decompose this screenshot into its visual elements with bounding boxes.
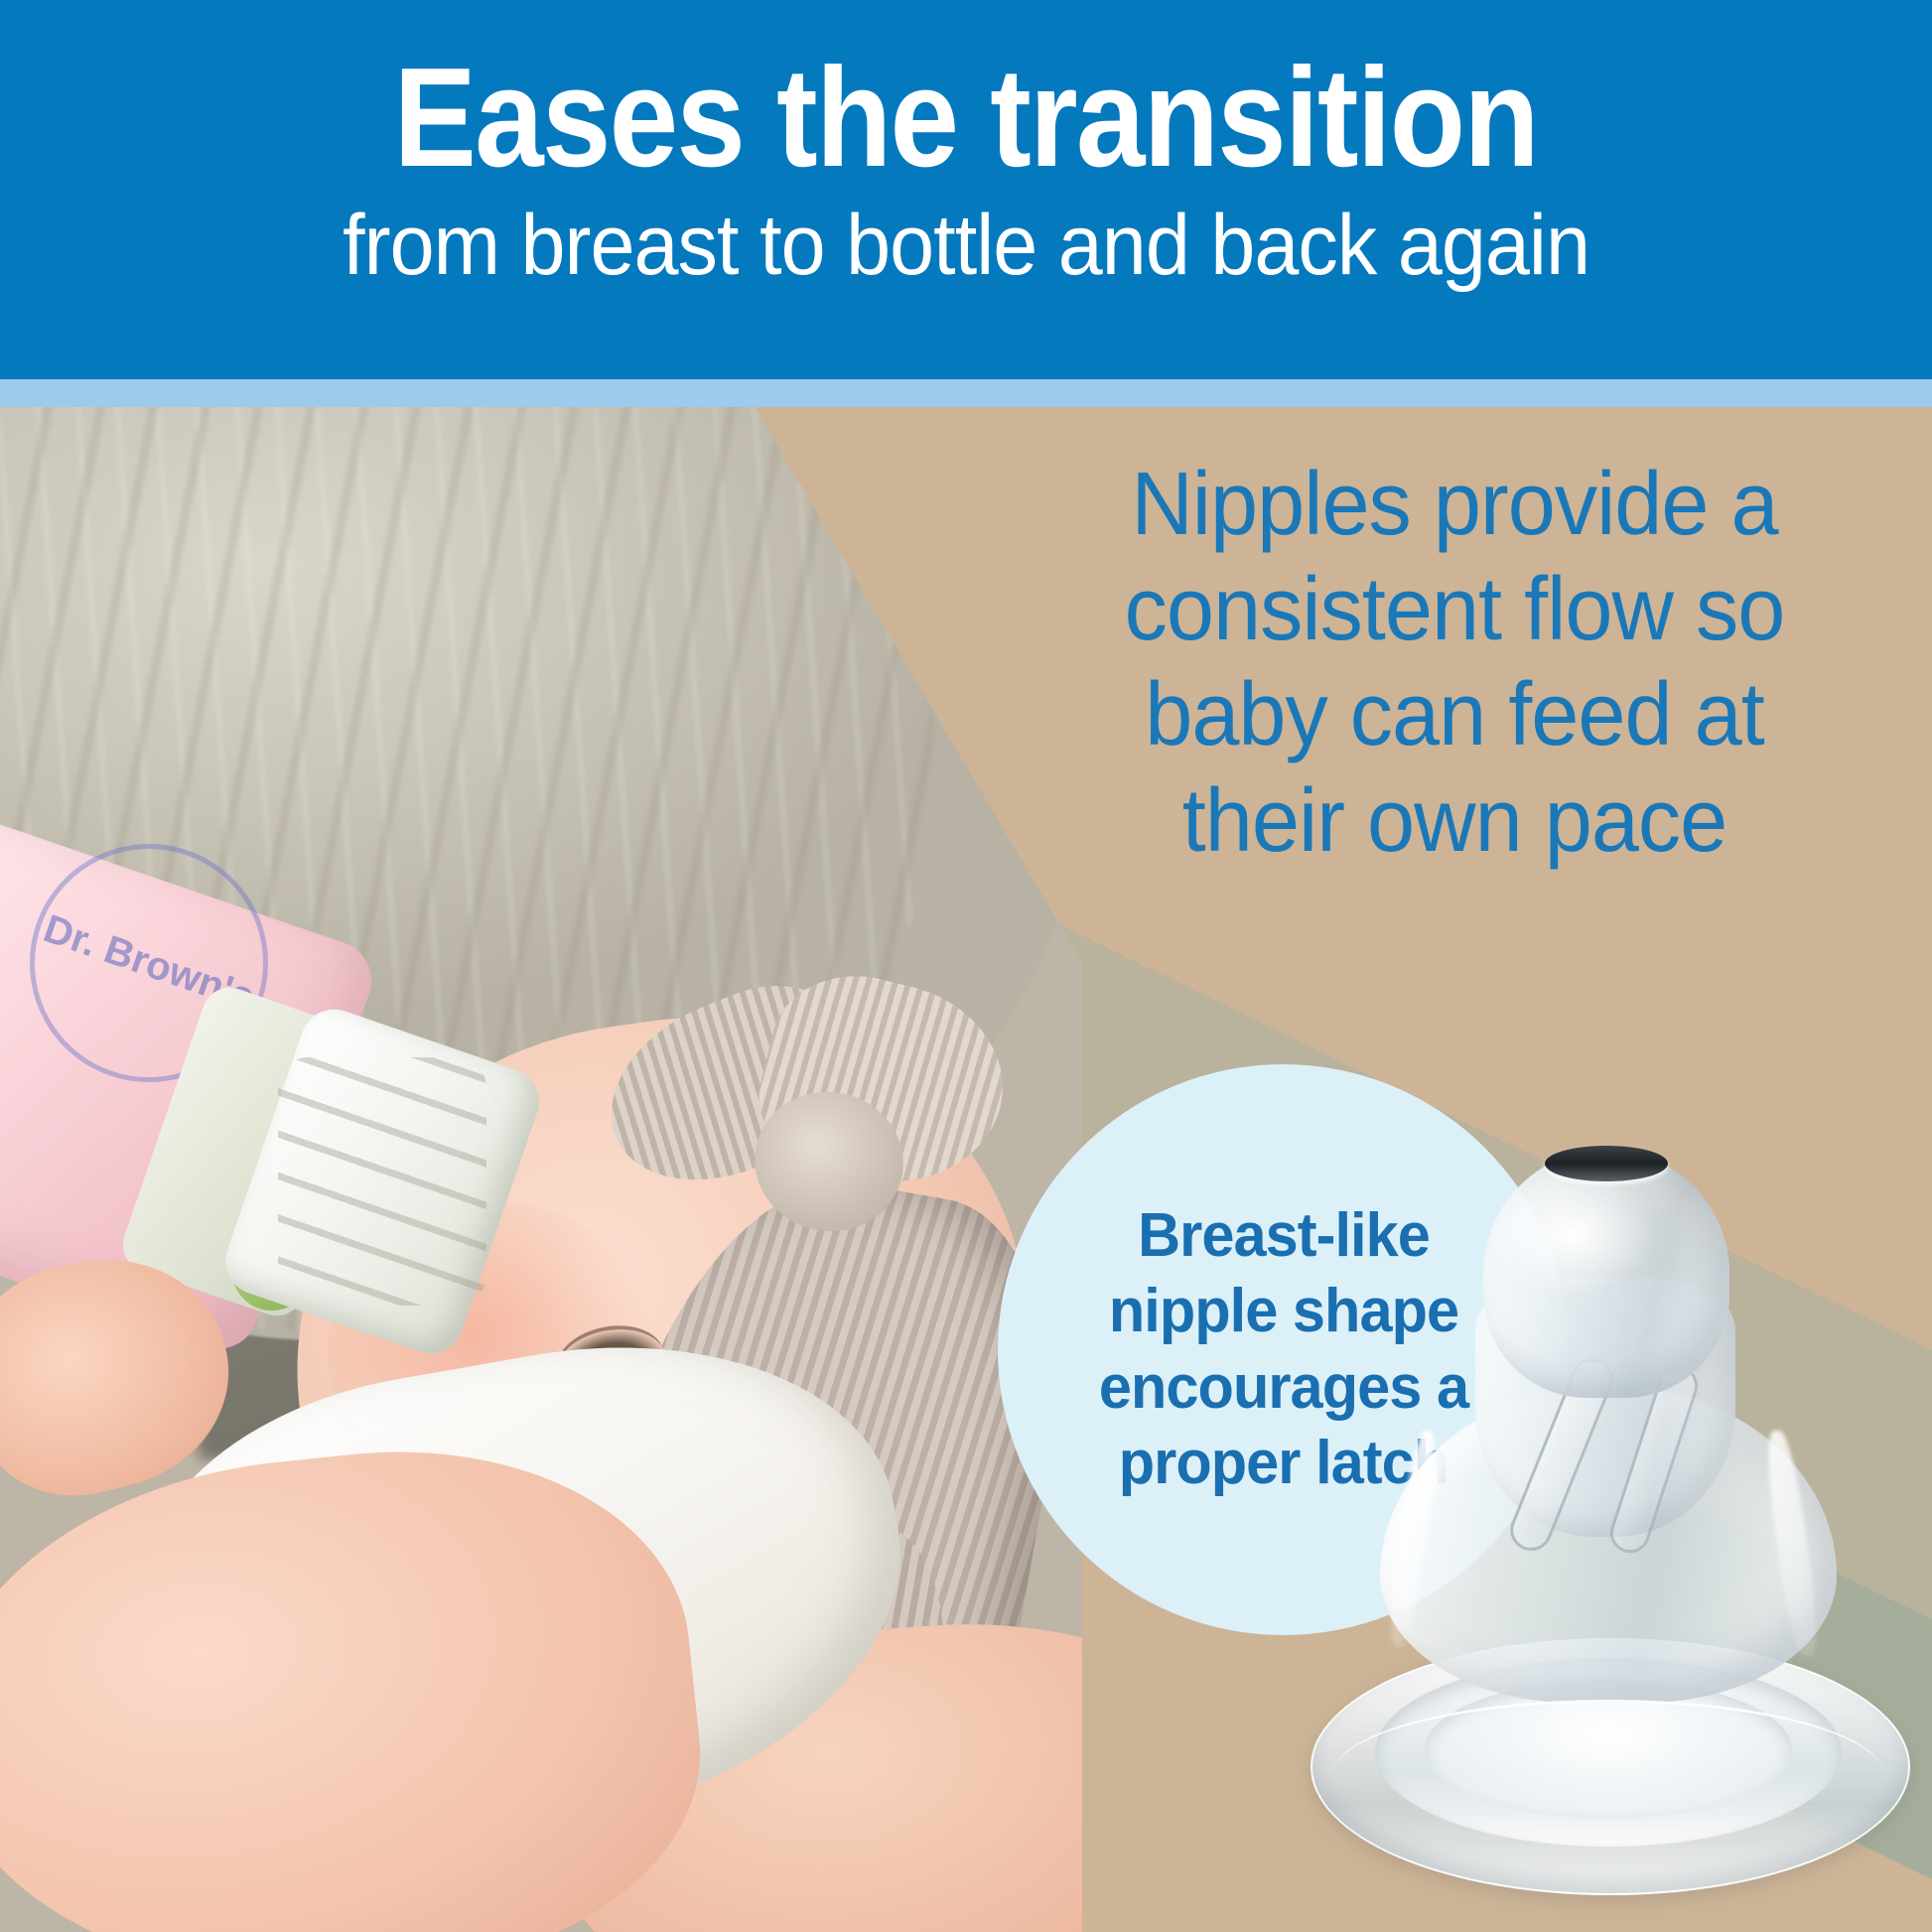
- feature-headline-line-3: baby can feed at: [1021, 662, 1888, 767]
- photo-bottle-cap-ribs: [278, 1057, 486, 1306]
- feature-headline: Nipples provide a consistent flow so bab…: [1021, 452, 1888, 874]
- page-title: Eases the transition: [394, 48, 1538, 189]
- page-subtitle: from breast to bottle and back again: [343, 203, 1589, 288]
- feature-headline-line-2: consistent flow so: [1021, 557, 1888, 662]
- header-banner: Eases the transition from breast to bott…: [0, 0, 1932, 379]
- accent-strip: [0, 379, 1932, 407]
- product-nipple-image: [1281, 1132, 1932, 1926]
- nipple-flow-hole: [1545, 1146, 1668, 1181]
- feature-headline-line-1: Nipples provide a: [1021, 452, 1888, 557]
- nipple-rim-highlight: [1332, 1700, 1884, 1852]
- marketing-infographic: Eases the transition from breast to bott…: [0, 0, 1932, 1932]
- feature-headline-line-4: their own pace: [1021, 768, 1888, 874]
- nipple-tip-bulb: [1483, 1150, 1729, 1398]
